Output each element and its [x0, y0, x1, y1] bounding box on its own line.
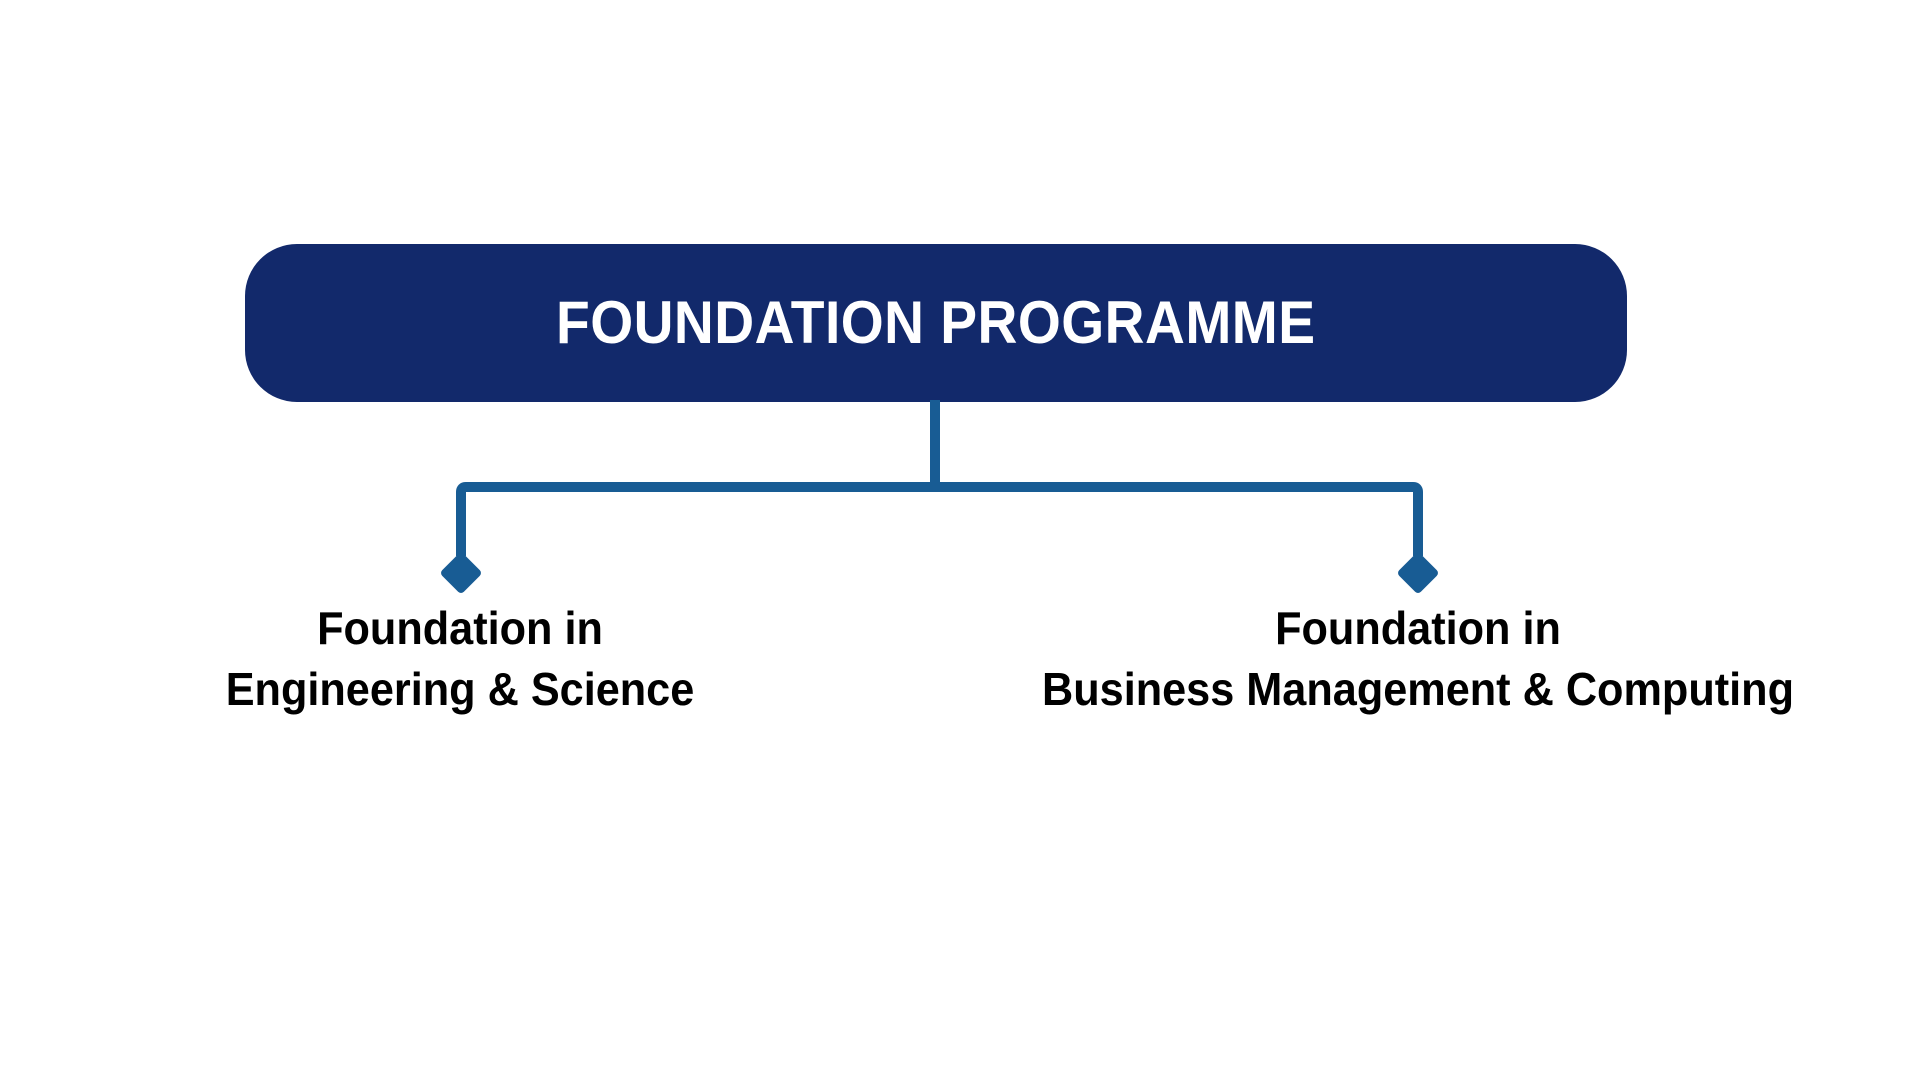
root-node-foundation-programme[interactable]: FOUNDATION PROGRAMME — [245, 244, 1627, 402]
connector-bus-left — [461, 487, 935, 556]
leaf-node-engineering-science[interactable]: Foundation in Engineering & Science — [211, 598, 709, 720]
diamond-marker-right — [1396, 551, 1439, 594]
root-node-label: FOUNDATION PROGRAMME — [556, 293, 1315, 353]
leaf-node-business-management-computing[interactable]: Foundation in Business Management & Comp… — [1018, 598, 1818, 720]
leaf-label-line-2: Engineering & Science — [226, 659, 695, 720]
connector-bus-right — [935, 487, 1418, 556]
leaf-label-line-1: Foundation in — [226, 598, 695, 659]
connector-layer — [0, 0, 1920, 1080]
leaf-label-line-1: Foundation in — [1042, 598, 1794, 659]
leaf-label-line-2: Business Management & Computing — [1042, 659, 1794, 720]
diamond-marker-left — [439, 551, 482, 594]
diagram-canvas: FOUNDATION PROGRAMME Foundation in Engin… — [0, 0, 1920, 1080]
